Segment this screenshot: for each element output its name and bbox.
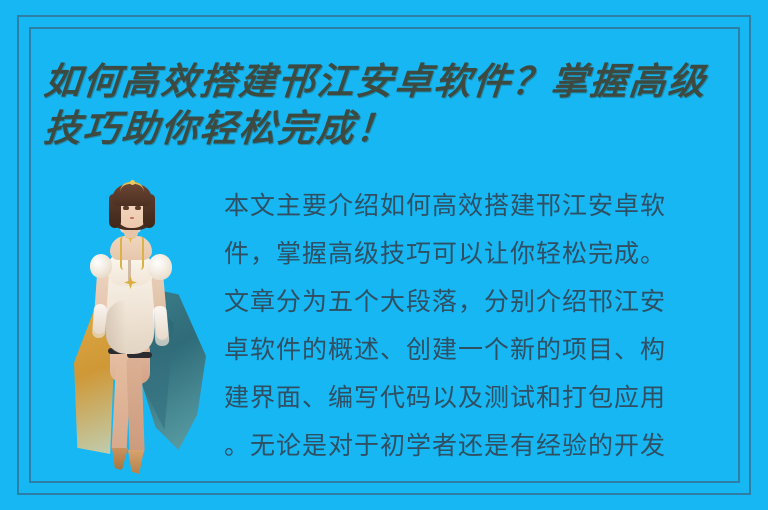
puff-sleeve-right	[148, 254, 172, 280]
body-line-1: 本文主要介绍如何高效搭建邗江安卓软	[224, 182, 720, 230]
body-line-5: 建界面、编写代码以及测试和打包应用	[224, 374, 720, 422]
torso-shading	[106, 300, 126, 354]
eye-right	[135, 206, 141, 210]
character-illustration	[62, 180, 210, 475]
page-title: 如何高效搭建邗江安卓软件？掌握高级 技巧助你轻松完成！	[44, 58, 734, 152]
body-line-3: 文章分为五个大段落，分别介绍邗江安	[224, 278, 720, 326]
body-line-4: 卓软件的概述、创建一个新的项目、构	[224, 326, 720, 374]
title-line-2: 技巧助你轻松完成！	[42, 105, 736, 152]
tiara-gem-icon	[130, 180, 135, 185]
eye-left	[123, 206, 129, 210]
gold-chain-halter	[120, 236, 144, 270]
shoe-left	[112, 448, 128, 470]
article-banner: 如何高效搭建邗江安卓软件？掌握高级 技巧助你轻松完成！	[0, 0, 768, 510]
shoe-right	[128, 450, 144, 474]
puff-sleeve-left	[90, 254, 112, 278]
mouth	[130, 217, 134, 219]
title-line-1: 如何高效搭建邗江安卓软件？掌握高级	[42, 58, 736, 105]
article-summary: 本文主要介绍如何高效搭建邗江安卓软 件，掌握高级技巧可以让你轻松完成。 文章分为…	[224, 182, 720, 470]
body-line-6: 。无论是对于初学者还是有经验的开发	[224, 422, 720, 470]
body-line-2: 件，掌握高级技巧可以让你轻松完成。	[224, 230, 720, 278]
glove-left	[92, 304, 107, 339]
